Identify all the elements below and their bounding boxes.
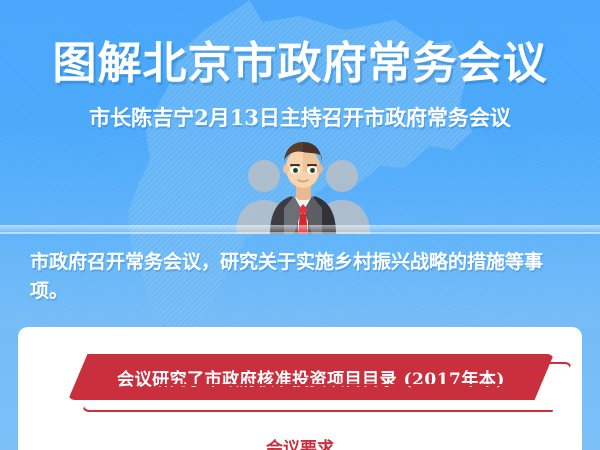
content-card: 会议研究了市政府核准投资项目目录 (2017年本) 会议要求 bbox=[18, 327, 582, 450]
banner-underline bbox=[158, 384, 518, 386]
section-heading: 会议要求 bbox=[18, 434, 582, 450]
official-speaker-illustration bbox=[228, 138, 378, 234]
banner-label: 会议研究了市政府核准投资项目目录 (2017年本) bbox=[68, 354, 554, 400]
infographic-page: 图解北京市政府常务会议 市长陈吉宁2月13日主持召开市政府常务会议 bbox=[0, 0, 600, 450]
section-banner[interactable]: 会议研究了市政府核准投资项目目录 (2017年本) bbox=[68, 354, 568, 406]
page-title: 图解北京市政府常务会议 bbox=[0, 38, 600, 90]
page-subtitle: 市长陈吉宁2月13日主持召开市政府常务会议 bbox=[0, 104, 600, 132]
lead-paragraph: 市政府召开常务会议，研究关于实施乡村振兴战略的措施等事项。 bbox=[30, 248, 575, 306]
